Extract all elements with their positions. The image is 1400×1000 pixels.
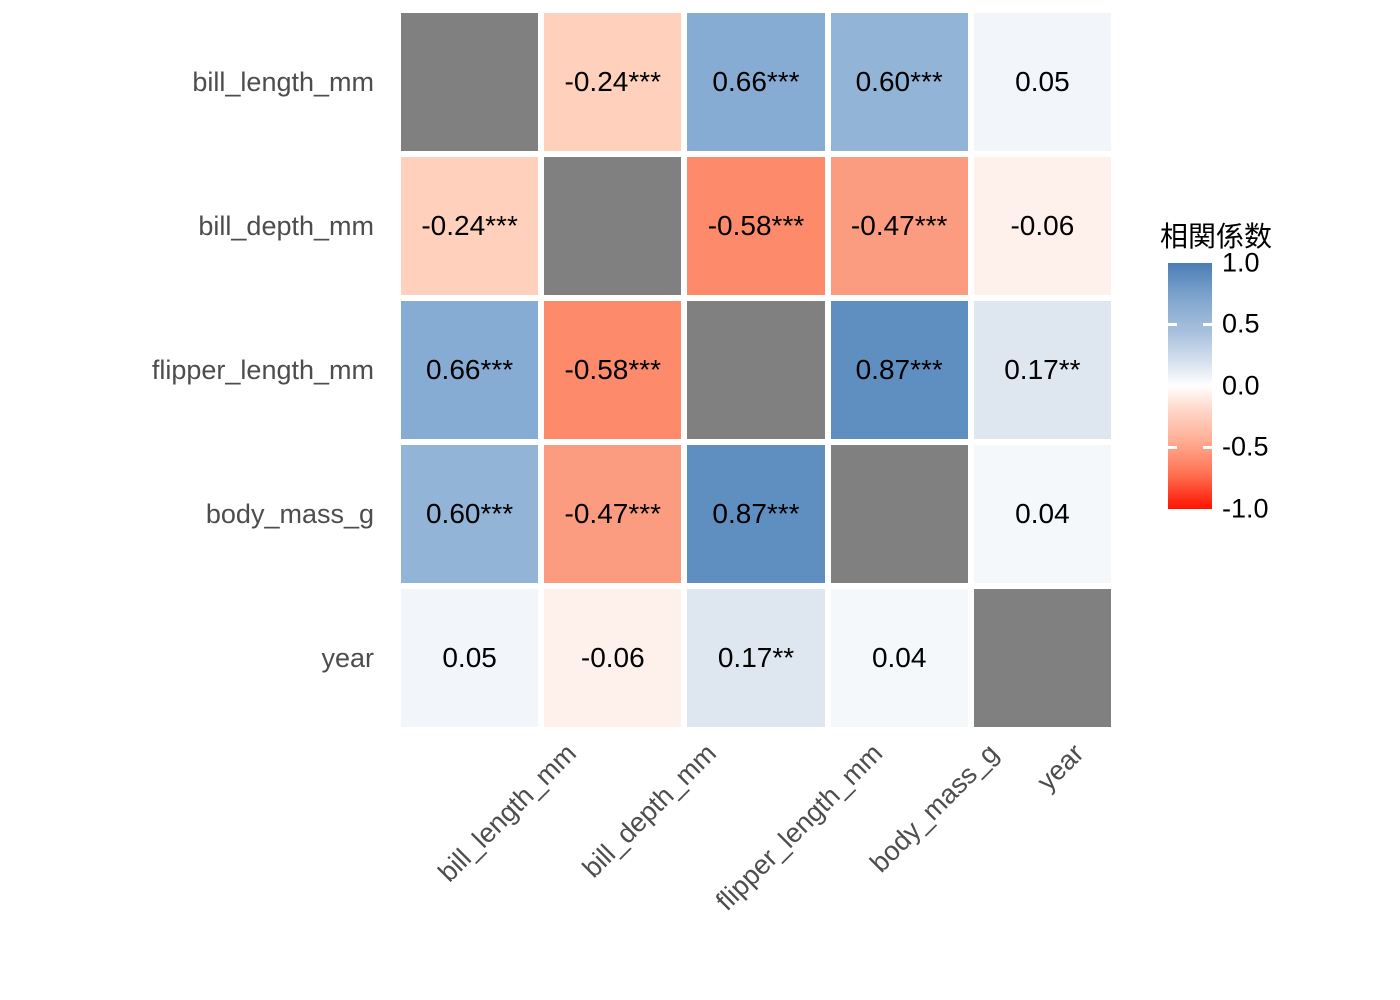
- significance-stars: ***: [767, 66, 800, 97]
- heatmap-cell: 0.05: [974, 13, 1111, 151]
- heatmap-cell-value: 0.60***: [856, 68, 943, 96]
- heatmap-cell-value: -0.06: [1010, 212, 1074, 240]
- heatmap-cell-value: -0.24***: [421, 212, 518, 240]
- legend-tick-label: -1.0: [1222, 493, 1269, 524]
- legend-tick-labels: 1.00.50.0-0.5-1.0: [1222, 263, 1352, 509]
- heatmap-cell-value: -0.58***: [565, 356, 662, 384]
- legend-tick-label: 0.0: [1222, 370, 1260, 401]
- x-axis-tick-slot: flipper_length_mm: [684, 730, 827, 990]
- heatmap-cell-diagonal: [544, 157, 681, 295]
- legend-tick-label: 0.5: [1222, 309, 1260, 340]
- y-axis-tick-label: flipper_length_mm: [0, 298, 386, 442]
- significance-stars: ***: [628, 498, 661, 529]
- heatmap-cell: 0.60***: [401, 445, 538, 583]
- heatmap-cell-value: 0.17**: [718, 644, 794, 672]
- heatmap-cell: -0.06: [974, 157, 1111, 295]
- heatmap-cell: 0.60***: [831, 13, 968, 151]
- heatmap-cell: 0.66***: [401, 301, 538, 439]
- significance-stars: ***: [772, 210, 805, 241]
- heatmap-cell-diagonal: [687, 301, 824, 439]
- heatmap-panel: -0.24***0.66***0.60***0.05-0.24***-0.58*…: [398, 10, 1114, 730]
- legend-title: 相関係数: [1160, 222, 1380, 253]
- correlation-heatmap-plot: bill_length_mmbill_depth_mmflipper_lengt…: [0, 0, 1400, 1000]
- heatmap-cell-diagonal: [401, 13, 538, 151]
- heatmap-cell-value: 0.87***: [712, 500, 799, 528]
- heatmap-cell-value: 0.17**: [1004, 356, 1080, 384]
- x-axis-tick-slot: year: [971, 730, 1114, 990]
- heatmap-cell: -0.47***: [831, 157, 968, 295]
- color-legend: 相関係数 1.00.50.0-0.5-1.0: [1160, 222, 1380, 513]
- heatmap-cell: -0.58***: [544, 301, 681, 439]
- heatmap-cell-value: -0.06: [581, 644, 645, 672]
- heatmap-cell-value: 0.60***: [426, 500, 513, 528]
- significance-stars: **: [1059, 354, 1081, 385]
- heatmap-cell: 0.87***: [687, 445, 824, 583]
- heatmap-cell: 0.04: [974, 445, 1111, 583]
- x-axis-tick-slot: body_mass_g: [828, 730, 971, 990]
- heatmap-cell-value: 0.66***: [712, 68, 799, 96]
- y-axis-tick-label: bill_depth_mm: [0, 154, 386, 298]
- significance-stars: ***: [910, 66, 943, 97]
- significance-stars: ***: [915, 210, 948, 241]
- heatmap-cell-value: 0.66***: [426, 356, 513, 384]
- heatmap-cell: 0.66***: [687, 13, 824, 151]
- heatmap-cell-value: -0.58***: [708, 212, 805, 240]
- legend-body: 1.00.50.0-0.5-1.0: [1160, 263, 1360, 513]
- x-axis-labels: bill_length_mmbill_depth_mmflipper_lengt…: [398, 730, 1114, 990]
- heatmap-cell: 0.87***: [831, 301, 968, 439]
- legend-tick-label: -0.5: [1222, 432, 1269, 463]
- heatmap-cell: -0.06: [544, 589, 681, 727]
- heatmap-cell: 0.04: [831, 589, 968, 727]
- heatmap-cell-value: -0.24***: [565, 68, 662, 96]
- legend-gradient-bar: [1168, 263, 1212, 509]
- heatmap-cell: -0.47***: [544, 445, 681, 583]
- heatmap-cell-value: 0.04: [1015, 500, 1070, 528]
- significance-stars: ***: [767, 498, 800, 529]
- heatmap-cell: 0.17**: [974, 301, 1111, 439]
- heatmap-cell: 0.17**: [687, 589, 824, 727]
- significance-stars: ***: [480, 354, 513, 385]
- heatmap-cell-value: 0.05: [1015, 68, 1070, 96]
- heatmap-cell-value: -0.47***: [565, 500, 662, 528]
- heatmap-cell-value: -0.47***: [851, 212, 948, 240]
- y-axis-tick-label: year: [0, 586, 386, 730]
- x-axis-tick-slot: bill_length_mm: [398, 730, 541, 990]
- y-axis-tick-label: body_mass_g: [0, 442, 386, 586]
- legend-tick-label: 1.0: [1222, 247, 1260, 278]
- significance-stars: **: [772, 642, 794, 673]
- heatmap-cell-value: 0.87***: [856, 356, 943, 384]
- y-axis-labels: bill_length_mmbill_depth_mmflipper_lengt…: [0, 10, 386, 730]
- heatmap-cell: -0.24***: [401, 157, 538, 295]
- significance-stars: ***: [910, 354, 943, 385]
- significance-stars: ***: [485, 210, 518, 241]
- heatmap-cell-diagonal: [974, 589, 1111, 727]
- significance-stars: ***: [628, 66, 661, 97]
- heatmap-cell: -0.24***: [544, 13, 681, 151]
- x-axis-tick-slot: bill_depth_mm: [541, 730, 684, 990]
- heatmap-cell-value: 0.05: [442, 644, 497, 672]
- heatmap-cell: -0.58***: [687, 157, 824, 295]
- significance-stars: ***: [628, 354, 661, 385]
- heatmap-cell-diagonal: [831, 445, 968, 583]
- heatmap-cell: 0.05: [401, 589, 538, 727]
- x-axis-tick-label: year: [1032, 738, 1091, 797]
- heatmap-cell-value: 0.04: [872, 644, 927, 672]
- y-axis-tick-label: bill_length_mm: [0, 10, 386, 154]
- significance-stars: ***: [480, 498, 513, 529]
